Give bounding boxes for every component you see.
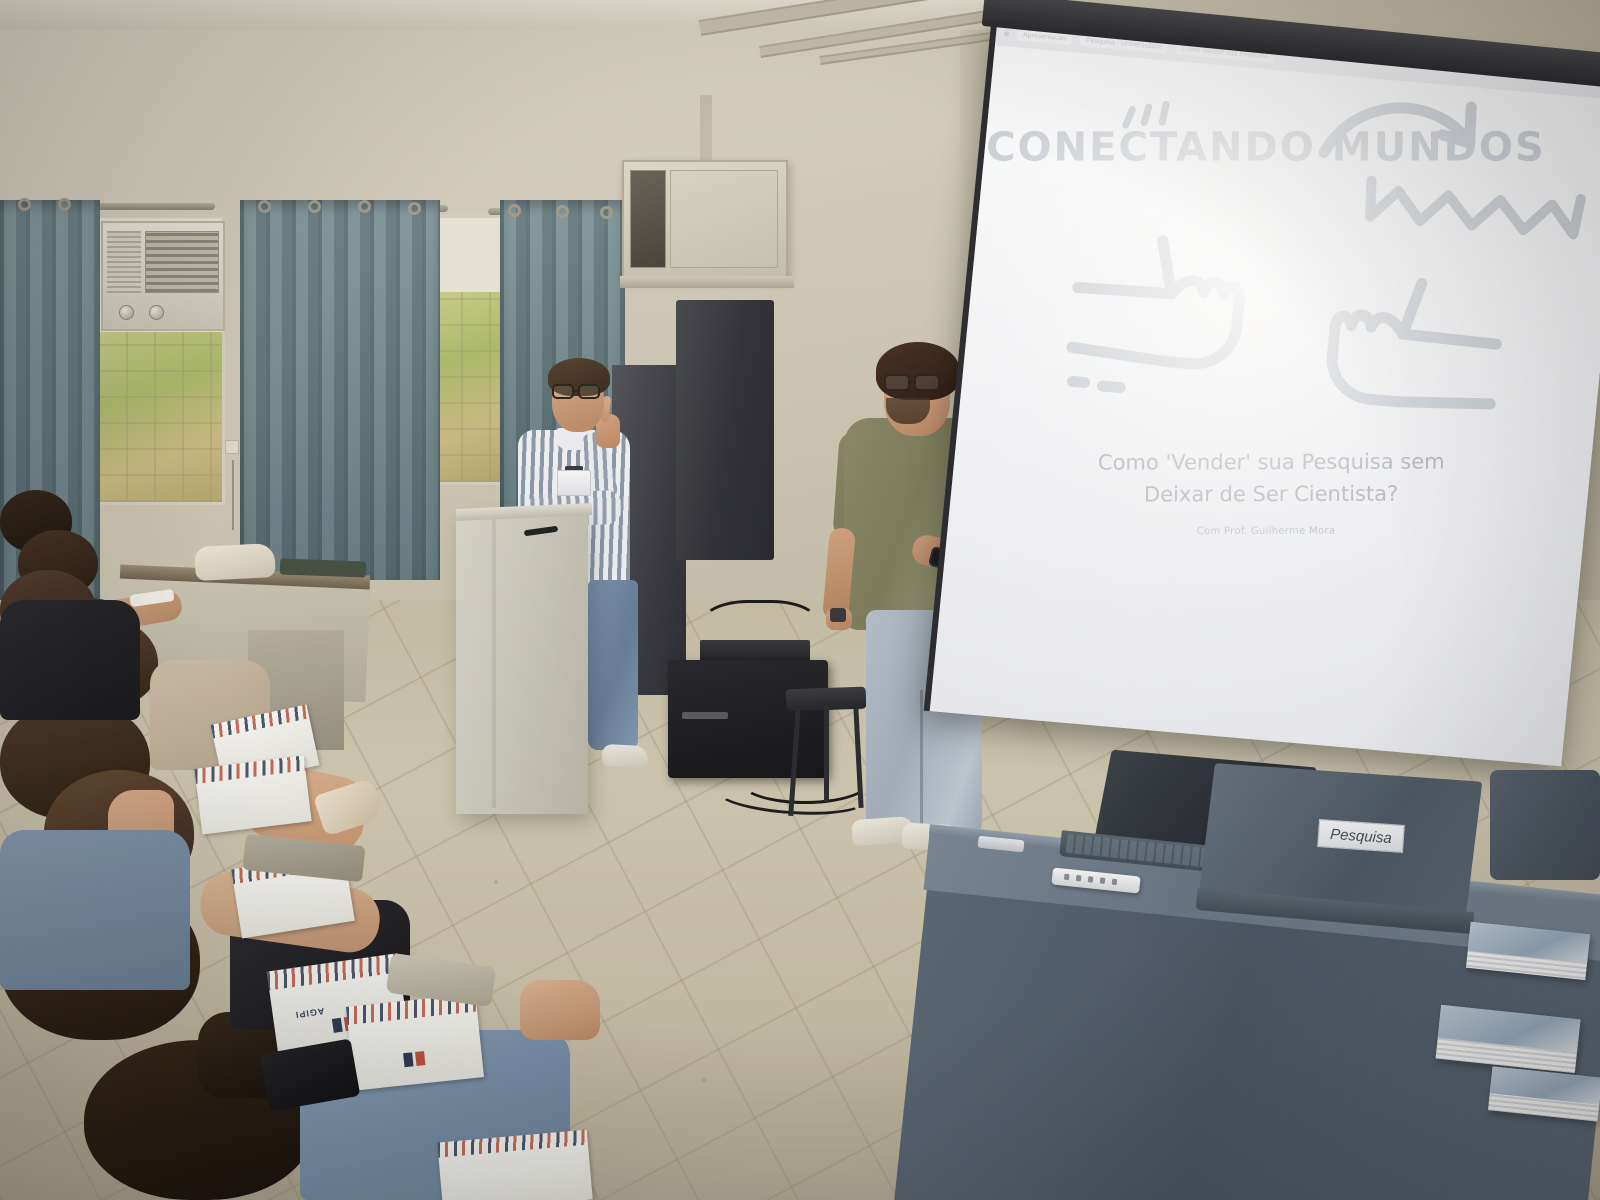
- curtain-ring: [358, 200, 371, 213]
- pointing-hands-doodle: [1041, 214, 1529, 454]
- curtain-ring: [58, 198, 71, 211]
- curtain-ring: [308, 200, 321, 213]
- network-rack-cabinet: [622, 160, 788, 280]
- rack-shelf: [620, 276, 794, 288]
- curtain-ring: [18, 198, 31, 211]
- ac-side-vent: [107, 231, 141, 293]
- curtain-ring: [556, 205, 569, 218]
- classroom-presentation-photo: Apresentacao Pesquisa - Universidade Com…: [0, 0, 1600, 1200]
- moderator-shoe: [601, 744, 648, 768]
- handout-mark: [415, 1051, 425, 1066]
- handout-mark: [403, 1052, 413, 1067]
- student-hand: [520, 980, 600, 1040]
- handout[interactable]: [437, 1130, 593, 1200]
- handout[interactable]: [194, 756, 311, 835]
- outlet-cable: [232, 460, 234, 530]
- browser-dot-icon: [1004, 31, 1009, 36]
- ac-knob[interactable]: [119, 305, 134, 320]
- speaker-brand-badge: [682, 712, 728, 719]
- curtain-ring: [258, 200, 271, 213]
- handout[interactable]: [346, 993, 484, 1090]
- laptop-sticker: Pesquisa: [1317, 819, 1405, 853]
- window-air-conditioner-icon: [101, 221, 225, 331]
- ac-front-vent: [145, 231, 219, 293]
- ac-knob[interactable]: [149, 305, 164, 320]
- curtain-panel[interactable]: [240, 200, 440, 580]
- wall-outlet: [225, 440, 239, 454]
- folder-on-desk: [280, 559, 367, 578]
- handout-logo: AGIPI: [294, 1006, 325, 1020]
- window-right: [430, 215, 510, 485]
- pa-speaker-tall: [676, 300, 774, 560]
- chair-right: [1490, 770, 1600, 880]
- projection-screen: Apresentacao Pesquisa - Universidade Com…: [924, 14, 1600, 766]
- moderator-jeans: [588, 580, 638, 750]
- moderator-glasses-left-lens: [552, 384, 574, 399]
- squiggle-underline-doodle: [1361, 174, 1595, 246]
- window-glass: [433, 292, 507, 482]
- student-body: [0, 600, 140, 720]
- student-body: [0, 830, 190, 990]
- slide-title: CONECTANDO MUNDOS: [986, 125, 1600, 171]
- bag-on-desk: [194, 543, 276, 581]
- presenter-glasses-left-lens: [884, 374, 910, 391]
- presenter-clicker-in-hand: [830, 608, 846, 622]
- slide-subtitle: Como 'Vender' sua Pesquisa sem Deixar de…: [1097, 447, 1444, 511]
- curtain-ring: [508, 204, 521, 217]
- slide-content: CONECTANDO MUNDOS: [930, 45, 1600, 766]
- slide-subtitle-line2: Deixar de Ser Cientista?: [1097, 478, 1444, 511]
- window-with-ac: [95, 215, 225, 505]
- slide-subtitle-line1: Como 'Vender' sua Pesquisa sem: [1098, 447, 1445, 480]
- slide-credit: Com Prof. Guilherme Mora: [1197, 526, 1336, 537]
- rack-glass-panel: [630, 170, 666, 268]
- presenter-glasses-right-lens: [914, 374, 940, 391]
- name-badge: [557, 470, 591, 496]
- moderator-glasses-right-lens: [578, 384, 600, 399]
- rack-door[interactable]: [670, 170, 778, 268]
- presenter-hair: [876, 342, 960, 400]
- cable-loop: [700, 600, 820, 660]
- podium: [456, 512, 588, 814]
- window-glass: [98, 332, 222, 502]
- presenter-glasses-bridge: [910, 381, 916, 383]
- handout-mark: [332, 1018, 343, 1033]
- curtain-ring: [600, 206, 613, 219]
- stool-leg: [824, 706, 829, 802]
- podium-edge: [492, 508, 496, 808]
- curtain-ring: [408, 202, 421, 215]
- wall-conduit: [700, 95, 712, 165]
- pants-seam: [920, 690, 923, 840]
- projection-screen-surface: Apresentacao Pesquisa - Universidade Com…: [930, 19, 1600, 766]
- moderator-glasses-bridge: [574, 390, 579, 392]
